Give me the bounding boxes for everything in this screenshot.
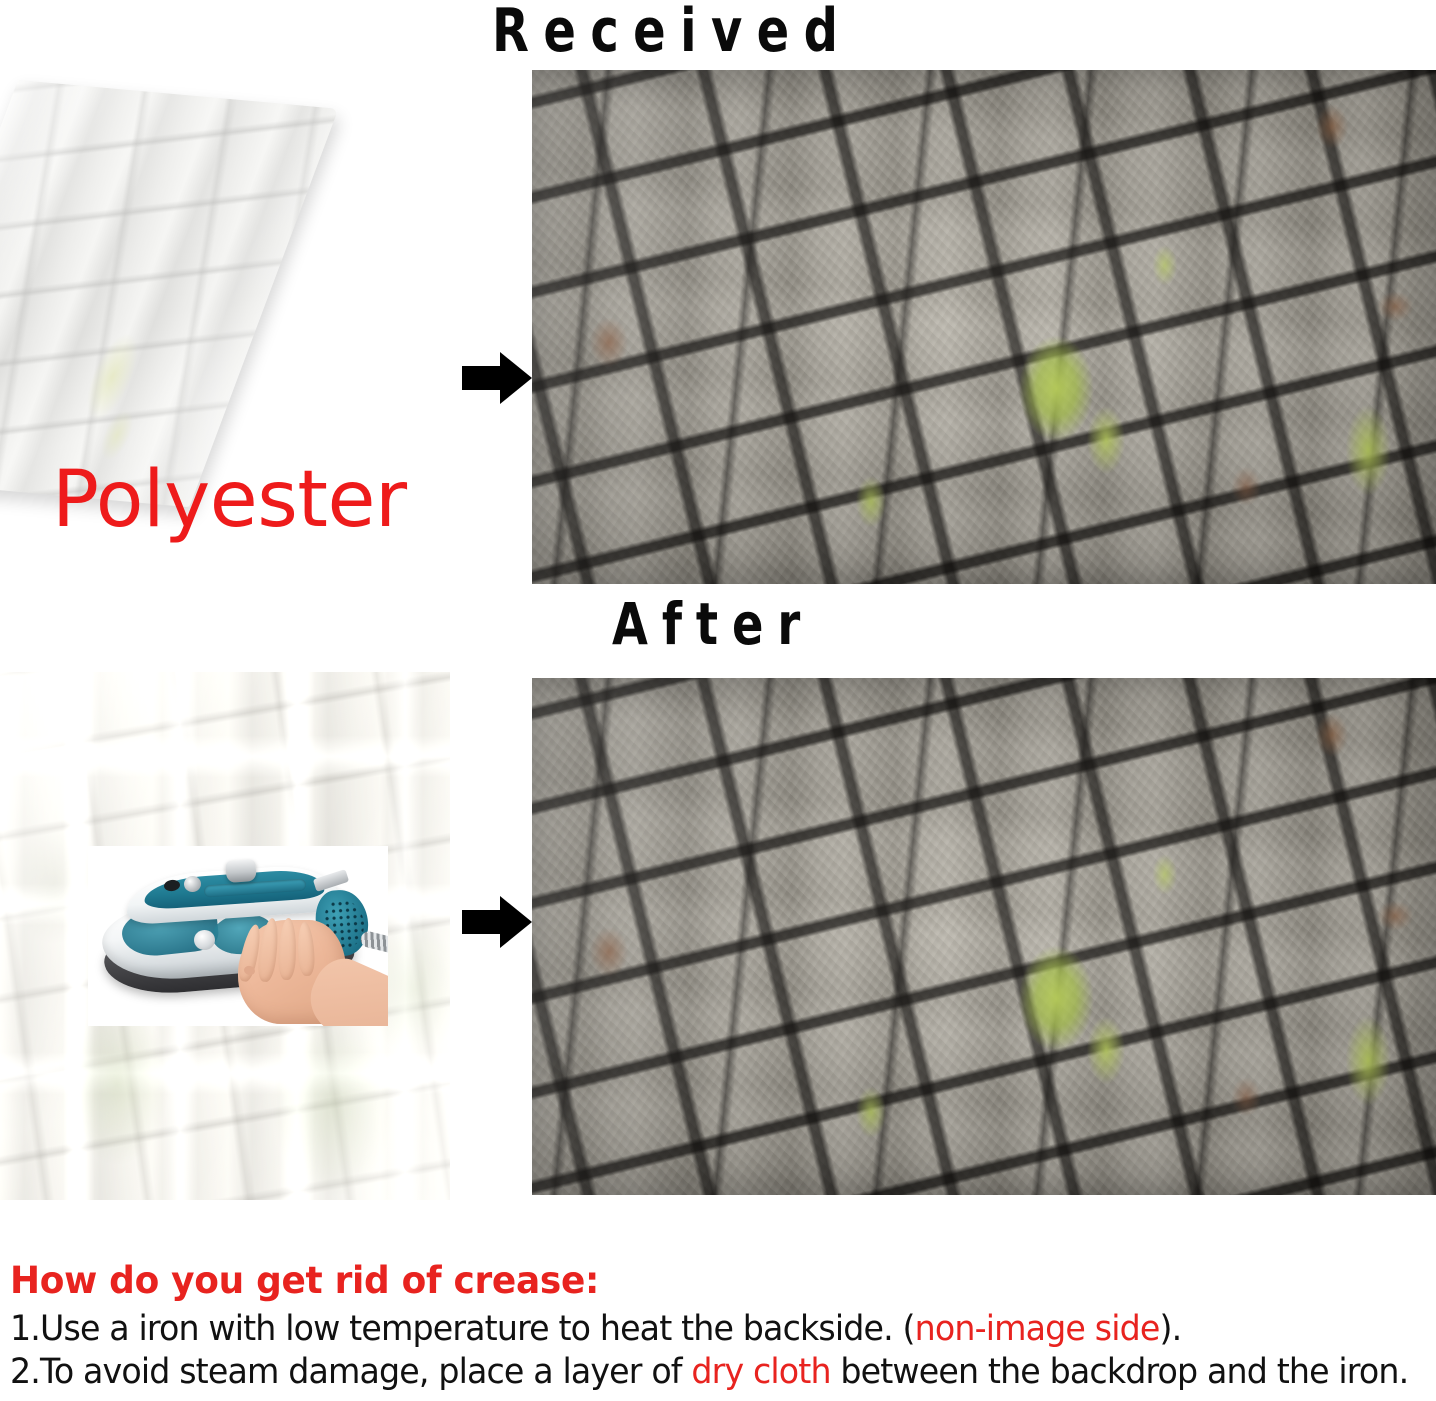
iron-power-cord <box>359 930 388 962</box>
instructions-line-2: 2.To avoid steam damage, place a layer o… <box>10 1351 1359 1394</box>
line2-highlight: dry cloth <box>691 1352 830 1392</box>
arrow-head <box>500 896 532 948</box>
iron-dial <box>194 930 215 950</box>
right-arrow-icon <box>462 896 534 948</box>
line1-text-a: 1.Use a iron with low temperature to hea… <box>10 1309 915 1349</box>
polyester-label: Polyester <box>52 455 407 545</box>
instructions-heading: How do you get rid of crease: <box>10 1262 1387 1299</box>
after-rock-backdrop-photo <box>532 678 1436 1195</box>
received-rock-backdrop-photo <box>532 70 1436 584</box>
folded-fabric-image <box>18 80 438 500</box>
iron-and-hand-photo <box>88 846 388 1026</box>
line1-text-b: ). <box>1159 1309 1181 1349</box>
arrow-shaft <box>462 910 504 934</box>
iron-steam-knob <box>225 859 256 883</box>
right-arrow-icon <box>462 352 534 404</box>
line2-text-b: between the backdrop and the iron. <box>831 1352 1409 1392</box>
fabric-sheet <box>0 80 338 507</box>
arrow-shaft <box>462 366 504 390</box>
arrow-head <box>500 352 532 404</box>
instructions-block: How do you get rid of crease: 1.Use a ir… <box>10 1262 1430 1393</box>
section-title-received: Received <box>492 0 852 66</box>
line2-text-a: 2.To avoid steam damage, place a layer o… <box>10 1352 691 1392</box>
section-title-after: After <box>612 590 814 658</box>
infographic-canvas: Received Polyester After <box>0 0 1436 1401</box>
line1-highlight: non-image side <box>915 1309 1160 1349</box>
instructions-line-1: 1.Use a iron with low temperature to hea… <box>10 1308 1359 1351</box>
